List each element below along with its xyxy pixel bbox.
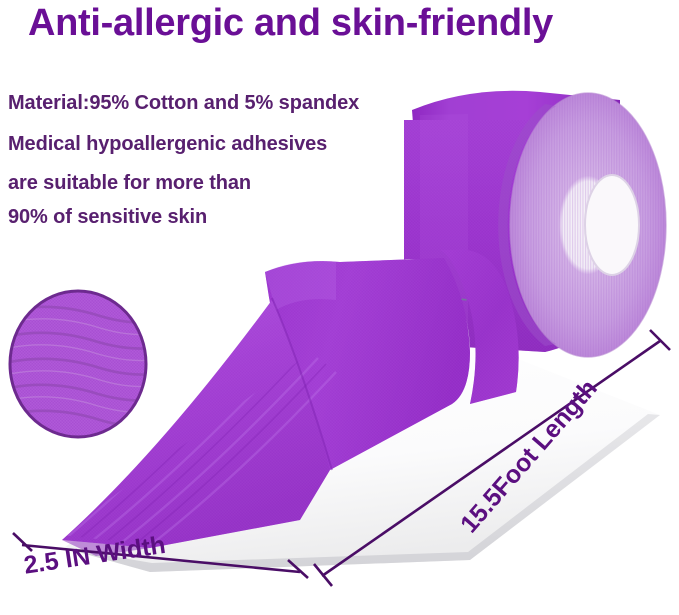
product-infographic: Anti-allergic and skin-friendly Material… <box>0 0 679 615</box>
product-illustration <box>0 0 679 615</box>
texture-closeup-swatch <box>0 290 170 440</box>
